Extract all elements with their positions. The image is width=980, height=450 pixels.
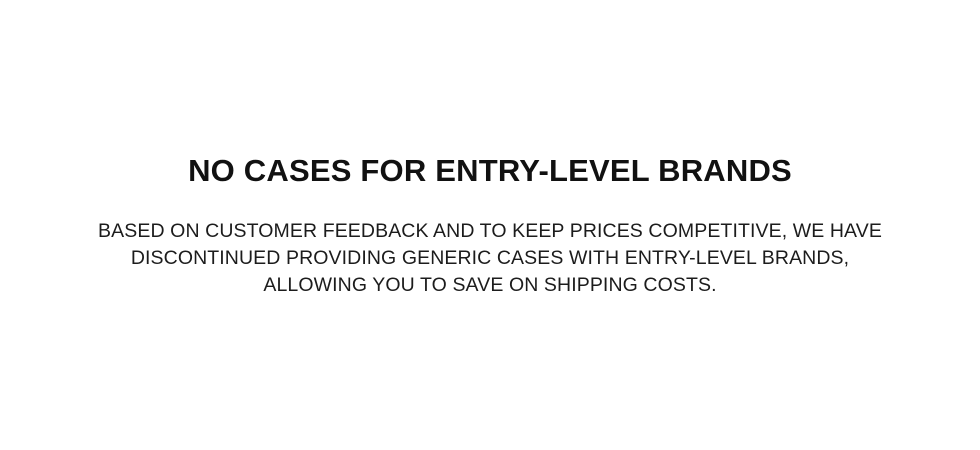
promo-description: BASED ON CUSTOMER FEEDBACK AND TO KEEP P… [90,218,890,299]
promo-notice-section: NO CASES FOR ENTRY-LEVEL BRANDS BASED ON… [0,0,980,450]
page-title: NO CASES FOR ENTRY-LEVEL BRANDS [188,152,792,190]
